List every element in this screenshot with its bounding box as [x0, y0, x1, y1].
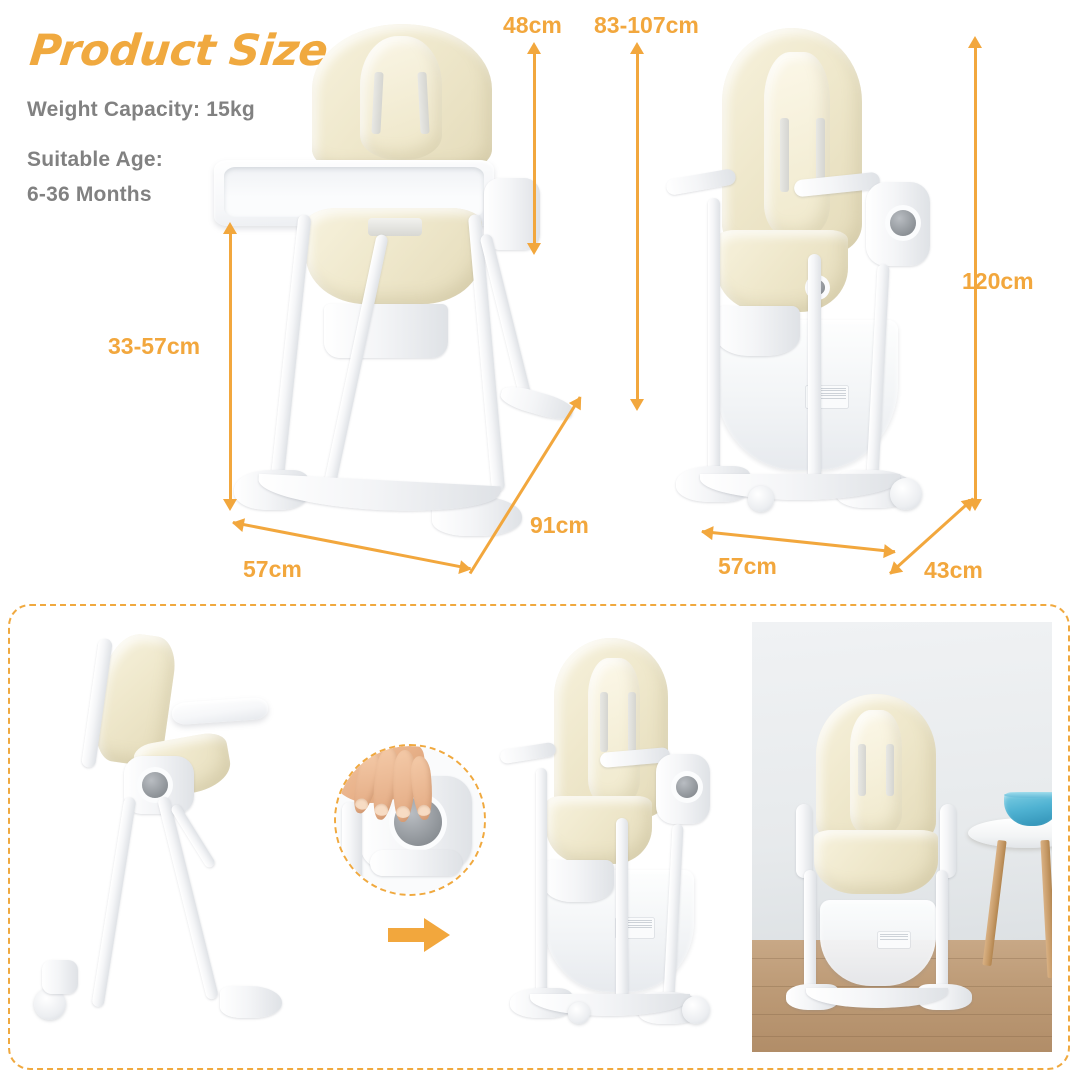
footrest-tray [716, 306, 800, 356]
folded-leg-mid [616, 818, 628, 1008]
detail-image [336, 746, 484, 894]
scene-product-tag [878, 932, 910, 948]
caster-wheel-left [748, 486, 774, 512]
folded-chair-photo [496, 628, 736, 1052]
folded-armrest-left [499, 742, 557, 765]
demo-wheel-mount [42, 960, 78, 994]
scene-chair [782, 694, 982, 1024]
demo-release-knob [142, 772, 168, 798]
front-leg-left [270, 214, 312, 492]
demo-tray [171, 697, 268, 726]
infographic-page: Product Size Weight Capacity: 15kg Suita… [0, 0, 1080, 1080]
side-leg-mid [808, 254, 821, 488]
dimension-label-57cm-left: 57cm [243, 556, 302, 583]
chair-side-view-photo [660, 18, 990, 538]
fold-step-arrow-icon [388, 918, 450, 952]
scene-leg-left [804, 870, 816, 994]
dimension-label-33-57cm: 33-57cm [108, 333, 200, 360]
bowl-rim [1004, 792, 1052, 798]
side-harness-left [780, 118, 789, 192]
folded-footrest-tray [544, 860, 614, 902]
button-press-detail-inset [334, 744, 486, 896]
demo-foot-rear [220, 986, 282, 1018]
suitable-age-label: Suitable Age: [27, 148, 163, 172]
dimension-label-57cm-right: 57cm [718, 553, 777, 580]
folded-caster-right [682, 996, 710, 1024]
base-rear-bar [498, 382, 575, 424]
suitable-age-value: 6-36 Months [27, 183, 152, 207]
side-seat-cushion [716, 230, 848, 312]
folded-seat-cushion [546, 796, 652, 864]
footrest [324, 304, 448, 358]
folded-harness-left [600, 692, 608, 752]
folded-harness-right [628, 692, 636, 752]
dimension-label-120cm: 120cm [962, 268, 1034, 295]
side-recline-knob [890, 210, 916, 236]
scene-harness-left [858, 744, 866, 796]
detail-lower-arm [370, 850, 462, 876]
scene-harness-right [886, 744, 894, 796]
caster-wheel-right [890, 478, 922, 510]
side-leg-front [708, 198, 720, 486]
dimension-label-48cm: 48cm [503, 12, 562, 39]
dimension-label-91cm: 91cm [530, 512, 589, 539]
demo-front-leg [91, 796, 136, 1007]
scene-arm-right [940, 804, 956, 878]
scene-seat-cushion [814, 830, 938, 894]
folded-recline-knob [676, 776, 698, 798]
scene-leg-right [936, 870, 948, 994]
scene-arm-left [796, 804, 812, 878]
folded-caster-left [568, 1002, 590, 1024]
side-view-chair-photo [20, 620, 380, 1060]
detail-leg-post [342, 802, 362, 888]
dimension-label-43cm: 43cm [924, 557, 983, 584]
folded-leg-front [536, 768, 547, 1006]
crotch-buckle [368, 218, 422, 236]
lifestyle-scene-photo [752, 622, 1052, 1052]
